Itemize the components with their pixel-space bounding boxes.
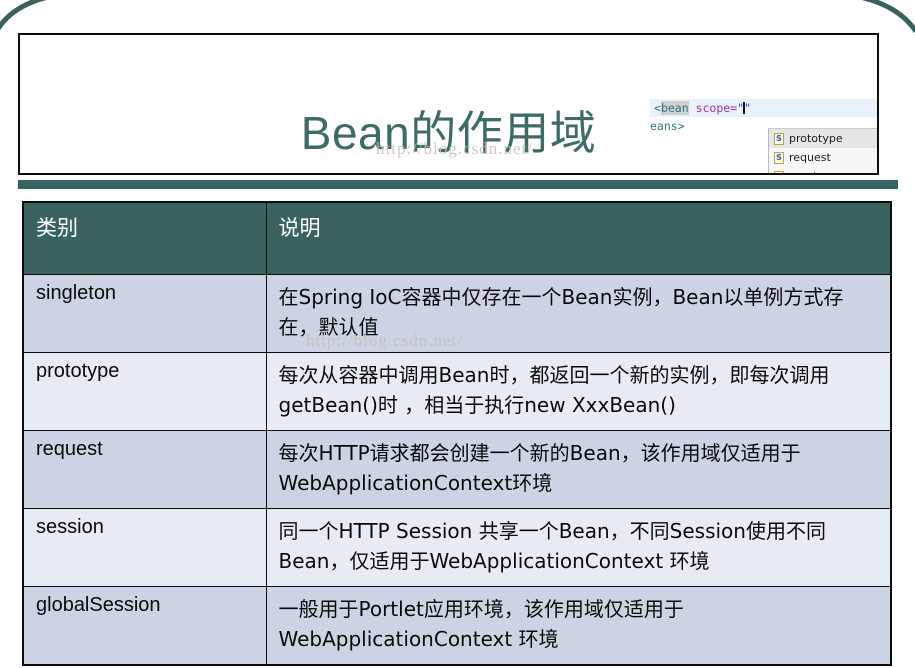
table-cell-category: request bbox=[23, 431, 266, 509]
page-title-latin: Bean bbox=[301, 107, 410, 159]
table-header-row: 类别 说明 bbox=[23, 202, 891, 275]
autocomplete-item-session[interactable]: S session bbox=[769, 167, 879, 175]
bean-scope-table: 类别 说明 singleton 在Spring IoC容器中仅存在一个Bean实… bbox=[22, 201, 892, 666]
table-row: session 同一个HTTP Session 共享一个Bean，不同Sessi… bbox=[23, 509, 891, 587]
table-cell-category: singleton bbox=[23, 275, 266, 353]
code-space bbox=[689, 101, 696, 115]
table-cell-category: globalSession bbox=[23, 587, 266, 666]
page-title-cjk: 的作用域 bbox=[410, 106, 596, 160]
autocomplete-item-prototype[interactable]: S prototype bbox=[769, 129, 879, 148]
schema-file-icon: S bbox=[774, 152, 784, 164]
decorative-arc-left-icon bbox=[0, 0, 104, 34]
table-row: globalSession 一般用于Portlet应用环境，该作用域仅适用于 W… bbox=[23, 587, 891, 666]
accent-divider-bar bbox=[18, 180, 898, 189]
autocomplete-item-label: session bbox=[789, 170, 830, 175]
table-cell-category: session bbox=[23, 509, 266, 587]
table-row: prototype 每次从容器中调用Bean时，都返回一个新的实例，即每次调用g… bbox=[23, 353, 891, 431]
code-quote-close: " bbox=[744, 101, 751, 115]
table-header-category: 类别 bbox=[23, 202, 266, 275]
table-row: singleton 在Spring IoC容器中仅存在一个Bean实例，Bean… bbox=[23, 275, 891, 353]
slide-root: Bean的作用域 <bean scope="" eans> S prototyp… bbox=[0, 0, 915, 668]
table-cell-description: 一般用于Portlet应用环境，该作用域仅适用于 WebApplicationC… bbox=[266, 587, 891, 666]
schema-file-icon: S bbox=[774, 171, 784, 176]
code-attr-name: scope bbox=[696, 101, 731, 115]
table-cell-description: 每次HTTP请求都会创建一个新的Bean，该作用域仅适用于WebApplicat… bbox=[266, 431, 891, 509]
table-cell-description: 同一个HTTP Session 共享一个Bean，不同Session使用不同Be… bbox=[266, 509, 891, 587]
schema-file-icon: S bbox=[774, 133, 784, 145]
autocomplete-popup[interactable]: S prototype S request S session S single… bbox=[768, 128, 879, 175]
table-cell-category: prototype bbox=[23, 353, 266, 431]
autocomplete-item-label: prototype bbox=[789, 132, 843, 145]
table-cell-description: 在Spring IoC容器中仅存在一个Bean实例，Bean以单例方式存在，默认… bbox=[266, 275, 891, 353]
table-row: request 每次HTTP请求都会创建一个新的Bean，该作用域仅适用于Web… bbox=[23, 431, 891, 509]
decorative-arc-right-icon bbox=[799, 0, 915, 34]
autocomplete-item-request[interactable]: S request bbox=[769, 148, 879, 167]
table-cell-description: 每次从容器中调用Bean时，都返回一个新的实例，即每次调用getBean()时 … bbox=[266, 353, 891, 431]
code-line-1: <bean scope="" bbox=[654, 100, 751, 117]
table-header-description: 说明 bbox=[266, 202, 891, 275]
autocomplete-item-label: request bbox=[789, 151, 831, 164]
code-tag-name: bean bbox=[661, 101, 689, 115]
code-line-2: eans> bbox=[650, 118, 685, 135]
code-angle-bracket: < bbox=[654, 101, 661, 115]
title-box: Bean的作用域 <bean scope="" eans> S prototyp… bbox=[18, 33, 879, 175]
